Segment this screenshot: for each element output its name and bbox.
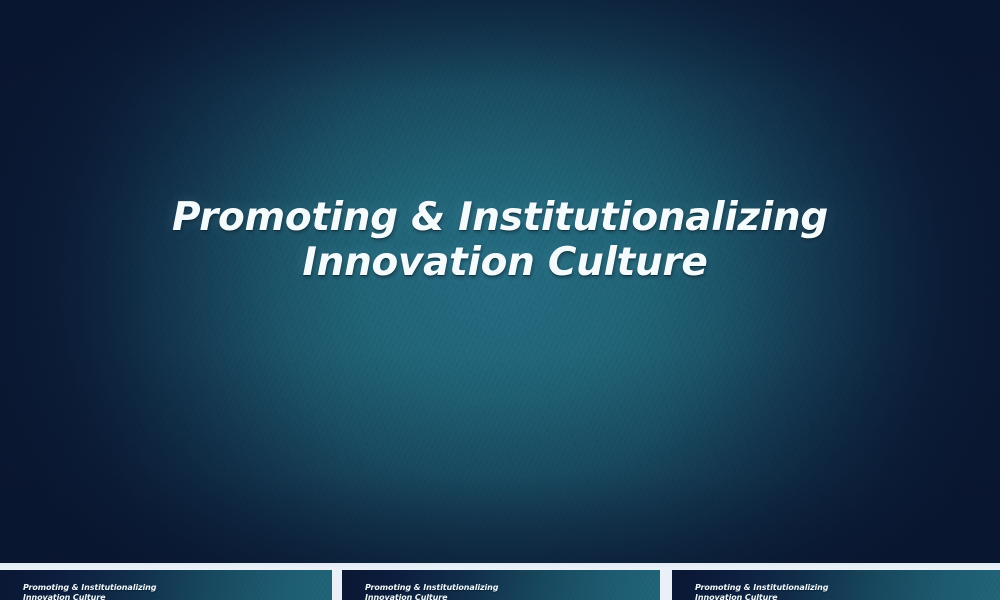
thumbnail-title-2: Promoting & Institutionalizing Innovatio… <box>365 583 638 600</box>
slide-viewer: Promoting & Institutionalizing Innovatio… <box>0 0 1000 600</box>
thumbnail-2-title-line-1: Promoting & Institutionalizing <box>365 583 638 593</box>
slide-title-line-2: Innovation Culture <box>0 240 1000 285</box>
filmstrip-divider <box>0 563 1000 570</box>
slide-title-line-1: Promoting & Institutionalizing <box>0 195 1000 240</box>
thumbnail-title-3: Promoting & Institutionalizing Innovatio… <box>695 583 977 600</box>
slide-thumbnail-strip[interactable]: Promoting & Institutionalizing Innovatio… <box>0 570 1000 600</box>
thumbnail-1-title-line-1: Promoting & Institutionalizing <box>23 583 309 593</box>
slide-thumbnail-1[interactable]: Promoting & Institutionalizing Innovatio… <box>0 570 332 600</box>
thumbnail-1-title-line-2: Innovation Culture <box>23 593 309 600</box>
slide-thumbnail-2[interactable]: Promoting & Institutionalizing Innovatio… <box>342 570 660 600</box>
thumbnail-3-title-line-1: Promoting & Institutionalizing <box>695 583 977 593</box>
thumbnail-2-title-line-2: Innovation Culture <box>365 593 638 600</box>
thumbnail-3-title-line-2: Innovation Culture <box>695 593 977 600</box>
thumbnail-separator-2 <box>660 570 672 600</box>
thumbnail-separator-1 <box>332 570 342 600</box>
slide-title[interactable]: Promoting & Institutionalizing Innovatio… <box>0 195 1000 285</box>
slide-canvas[interactable]: Promoting & Institutionalizing Innovatio… <box>0 0 1000 563</box>
slide-thumbnail-3[interactable]: Promoting & Institutionalizing Innovatio… <box>672 570 1000 600</box>
thumbnail-title-1: Promoting & Institutionalizing Innovatio… <box>23 583 309 600</box>
